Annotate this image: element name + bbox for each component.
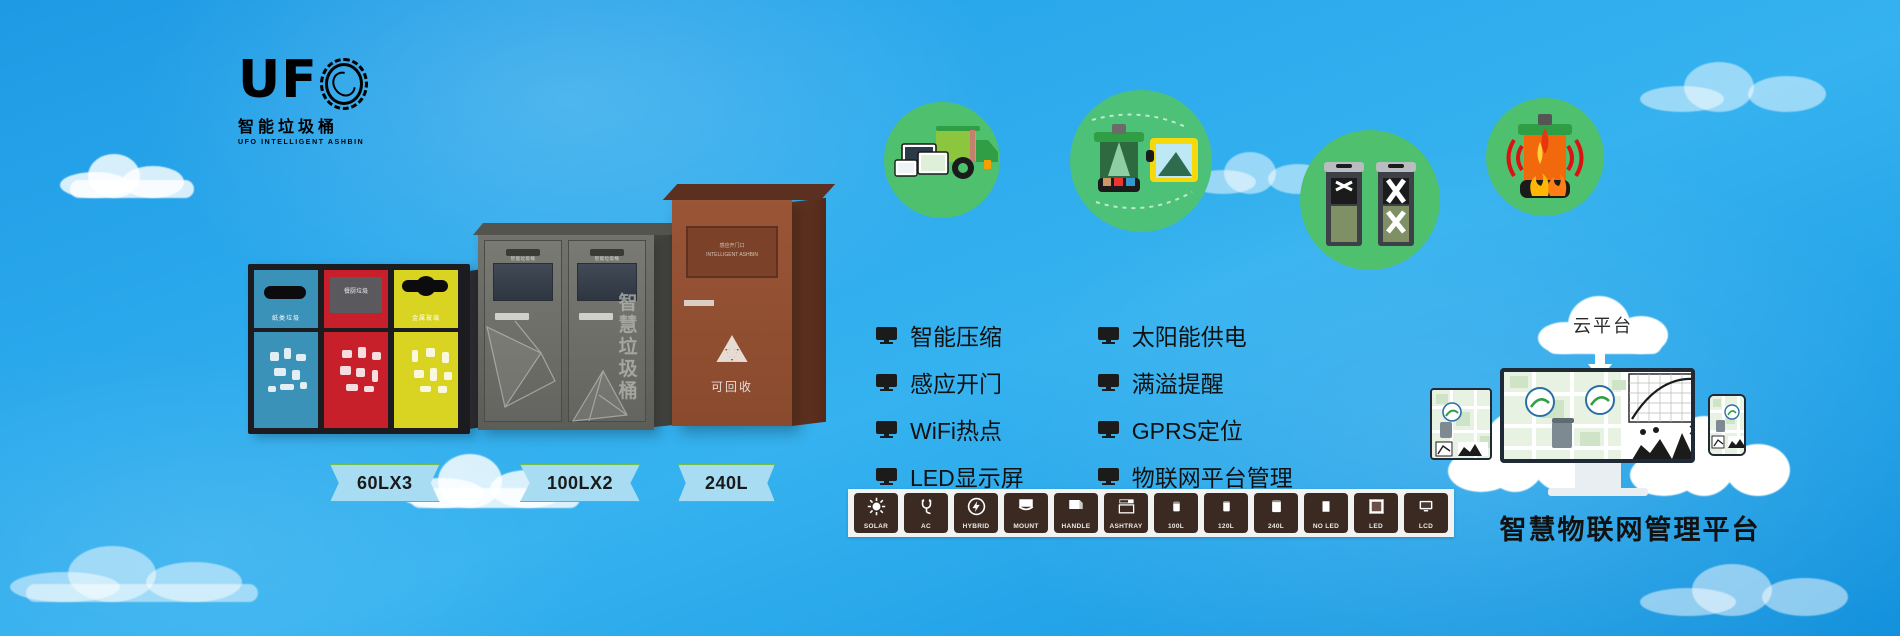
monitor-bullet-icon bbox=[876, 421, 897, 438]
monitor-bullet-icon bbox=[1098, 327, 1119, 344]
glass-shard-graphic-left bbox=[485, 311, 563, 421]
feature-label: 满溢提醒 bbox=[1132, 365, 1224, 399]
monitor-bullet-icon bbox=[876, 374, 897, 391]
monitor-overlay-graphics bbox=[1504, 372, 1695, 463]
option-label: NO LED bbox=[1313, 523, 1339, 530]
option-tile-ac[interactable]: AC bbox=[904, 493, 948, 533]
monitor-bullet-icon bbox=[1098, 468, 1119, 485]
platform-caption: 智慧物联网管理平台 bbox=[1430, 508, 1830, 547]
bin-120l-icon bbox=[1213, 496, 1239, 516]
option-tile-240l[interactable]: 240L bbox=[1254, 493, 1298, 533]
dual-bin-compaction-icon bbox=[1300, 130, 1440, 270]
fire-alarm-bin-icon bbox=[1486, 98, 1604, 216]
product-brown-recycling-bin: 感应开门口 INTELLIGENT ASHBIN 可回收 bbox=[672, 196, 792, 426]
glass-shard-graphic-right bbox=[569, 365, 647, 425]
monitor-bullet-icon bbox=[1098, 421, 1119, 438]
option-tile-100l[interactable]: 100L bbox=[1154, 493, 1198, 533]
feature-item: WiFi热点 bbox=[876, 412, 1024, 446]
bin3-label-metal-glass: 金属玻璃 bbox=[394, 313, 458, 322]
phone-overlay-graphics bbox=[1710, 396, 1746, 456]
feature-label: WiFi热点 bbox=[910, 412, 1002, 446]
cloud-decoration-bottom-left bbox=[10, 540, 270, 602]
bin1-panel-en: INTELLIGENT ASHBIN bbox=[688, 251, 776, 260]
smartphone-device bbox=[1708, 394, 1746, 456]
cloud-platform-badge: 云平台 bbox=[1538, 296, 1668, 354]
option-label: MOUNT bbox=[1013, 523, 1038, 530]
capacity-badge-100lx2: 100LX2 bbox=[520, 464, 640, 502]
feature-item: 感应开门 bbox=[876, 365, 1024, 399]
option-label: LED bbox=[1369, 523, 1383, 530]
tablet-device bbox=[1430, 388, 1492, 460]
feature-item: GPRS定位 bbox=[1098, 412, 1293, 446]
monitor-bullet-icon bbox=[1098, 374, 1119, 391]
option-tile-mount[interactable]: MOUNT bbox=[1004, 493, 1048, 533]
bin-240l-icon bbox=[1263, 496, 1289, 516]
brand-logo: UF 智能垃圾桶 UFO INTELLIGENT ASHBIN bbox=[238, 58, 368, 146]
bin-100l-icon bbox=[1163, 496, 1189, 516]
feature-circle-fire-alarm bbox=[1486, 98, 1604, 216]
bin2-panel-text-right: 智能垃圾桶 bbox=[569, 256, 645, 262]
logo-chinese-name: 智能垃圾桶 bbox=[238, 113, 368, 137]
bin1-panel-cn: 感应开门口 bbox=[688, 242, 776, 251]
option-tile-120l[interactable]: 120L bbox=[1204, 493, 1248, 533]
feature-column-right: 太阳能供电 满溢提醒 GPRS定位 物联网平台管理 bbox=[1098, 318, 1293, 493]
monitor-bullet-icon bbox=[876, 327, 897, 344]
feature-list: 智能压缩 感应开门 WiFi热点 LED显示屏 太阳能供电 满溢提醒 bbox=[876, 318, 1293, 493]
feature-circle-compaction bbox=[1300, 130, 1440, 270]
desktop-monitor-device bbox=[1500, 368, 1695, 463]
cloud-decoration-top-left bbox=[60, 150, 200, 198]
product-grey-double-bin: 智能垃圾桶 智能垃圾桶 智慧垃圾桶 bbox=[478, 232, 654, 430]
option-label: ASHTRAY bbox=[1110, 523, 1143, 530]
bin3-label-paper: 纸类垃圾 bbox=[254, 313, 318, 322]
option-label: HANDLE bbox=[1062, 523, 1091, 530]
logo-wordmark: UF bbox=[238, 58, 318, 102]
bin-sensor-scan-icon bbox=[1070, 90, 1212, 232]
feature-item: 物联网平台管理 bbox=[1098, 459, 1293, 493]
feature-column-left: 智能压缩 感应开门 WiFi热点 LED显示屏 bbox=[876, 318, 1024, 493]
bin1-display-panel: 感应开门口 INTELLIGENT ASHBIN bbox=[686, 226, 778, 278]
feature-item: 智能压缩 bbox=[876, 318, 1024, 352]
option-tile-hybrid[interactable]: HYBRID bbox=[954, 493, 998, 533]
monitor-bullet-icon bbox=[876, 468, 897, 485]
option-icon-strip: SOLAR AC HYBRID MOUNT bbox=[848, 489, 1454, 537]
feature-label: 物联网平台管理 bbox=[1132, 459, 1293, 493]
logo-ring-icon bbox=[320, 58, 368, 110]
wall-mount-icon bbox=[1013, 496, 1039, 516]
garbage-truck-and-devices-icon bbox=[884, 102, 1000, 218]
banner-canvas: UF 智能垃圾桶 UFO INTELLIGENT ASHBIN bbox=[0, 0, 1900, 636]
feature-label: LED显示屏 bbox=[910, 459, 1024, 493]
tablet-overlay-graphics bbox=[1432, 390, 1492, 460]
sun-icon bbox=[863, 496, 889, 516]
ashtray-icon bbox=[1113, 496, 1139, 516]
feature-item: 满溢提醒 bbox=[1098, 365, 1293, 399]
feature-label: 智能压缩 bbox=[910, 318, 1002, 352]
option-label: HYBRID bbox=[963, 523, 990, 530]
option-label: 100L bbox=[1168, 523, 1184, 530]
lightning-bolt-icon bbox=[963, 496, 989, 516]
bin2-panel-text-left: 智能垃圾桶 bbox=[485, 256, 561, 262]
bin1-body-label: 可回收 bbox=[672, 378, 792, 395]
power-plug-icon bbox=[913, 496, 939, 516]
feature-item: LED显示屏 bbox=[876, 459, 1024, 493]
option-label: AC bbox=[921, 523, 931, 530]
recycle-symbol-icon bbox=[709, 332, 755, 374]
logo-english-name: UFO INTELLIGENT ASHBIN bbox=[238, 139, 368, 146]
feature-label: GPRS定位 bbox=[1132, 412, 1243, 446]
blank-panel-icon bbox=[1313, 496, 1339, 516]
option-tile-handle[interactable]: HANDLE bbox=[1054, 493, 1098, 533]
feature-label: 太阳能供电 bbox=[1132, 318, 1247, 352]
feature-label: 感应开门 bbox=[910, 365, 1002, 399]
option-tile-led[interactable]: LED bbox=[1354, 493, 1398, 533]
option-label: SOLAR bbox=[864, 523, 888, 530]
monitor-stand bbox=[1575, 463, 1621, 489]
bin3-label-kitchen: 餐厨垃圾 bbox=[324, 286, 388, 295]
option-label: 240L bbox=[1268, 523, 1284, 530]
monitor-base bbox=[1548, 488, 1648, 496]
option-label: 120L bbox=[1218, 523, 1234, 530]
feature-item: 太阳能供电 bbox=[1098, 318, 1293, 352]
capacity-badge-60lx3: 60LX3 bbox=[330, 464, 440, 502]
handle-icon bbox=[1063, 496, 1089, 516]
led-panel-icon bbox=[1363, 496, 1389, 516]
cloud-decoration-top-right bbox=[1640, 60, 1840, 112]
feature-circle-fleet bbox=[884, 102, 1000, 218]
iot-platform-illustration: 云平台 bbox=[1430, 296, 1830, 546]
option-tile-solar[interactable]: SOLAR bbox=[854, 493, 898, 533]
product-three-compartment-bin: 纸类垃圾 餐厨垃圾 bbox=[248, 264, 470, 434]
cloud-decoration-bottom-right bbox=[1640, 560, 1870, 616]
capacity-badge-240l: 240L bbox=[678, 464, 775, 502]
option-tile-ashtray[interactable]: ASHTRAY bbox=[1104, 493, 1148, 533]
feature-circle-sensor bbox=[1070, 90, 1212, 232]
option-tile-no-led[interactable]: NO LED bbox=[1304, 493, 1348, 533]
cloud-platform-label: 云平台 bbox=[1538, 312, 1668, 338]
